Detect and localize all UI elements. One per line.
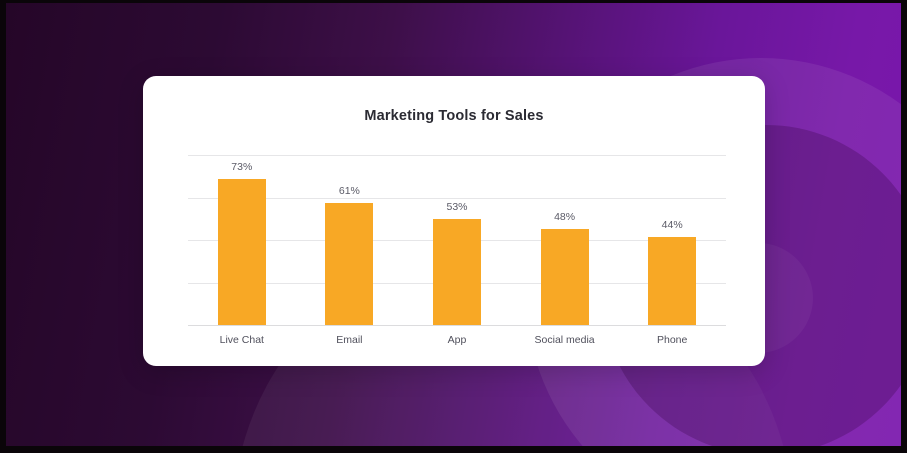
bar-chart-plot-area: 73%Live Chat61%Email53%App48%Social medi…: [188, 155, 726, 325]
bar-group[interactable]: 61%Email: [296, 155, 404, 325]
bar-rect[interactable]: [433, 219, 481, 325]
bar-group[interactable]: 73%Live Chat: [188, 155, 296, 325]
slide-frame: Marketing Tools for Sales 73%Live Chat61…: [0, 0, 907, 453]
bar-value-label: 48%: [554, 211, 575, 223]
bar-group[interactable]: 44%Phone: [618, 155, 726, 325]
bar-value-label: 44%: [662, 219, 683, 231]
bar-rect[interactable]: [648, 237, 696, 325]
bar-group[interactable]: 48%Social media: [511, 155, 619, 325]
chart-card: Marketing Tools for Sales 73%Live Chat61…: [143, 76, 765, 366]
bar-rect[interactable]: [218, 179, 266, 325]
bar-category-label: Phone: [657, 334, 687, 346]
bar-value-label: 61%: [339, 185, 360, 197]
bar-category-label: Live Chat: [220, 334, 264, 346]
bar-value-label: 53%: [446, 201, 467, 213]
axis-baseline: [188, 325, 726, 326]
bar-value-label: 73%: [231, 161, 252, 173]
bar-group[interactable]: 53%App: [403, 155, 511, 325]
bar-category-label: App: [448, 334, 467, 346]
chart-title: Marketing Tools for Sales: [143, 108, 765, 124]
bar-category-label: Social media: [535, 334, 595, 346]
bars-layer: 73%Live Chat61%Email53%App48%Social medi…: [188, 155, 726, 325]
bar-rect[interactable]: [325, 203, 373, 325]
bar-category-label: Email: [336, 334, 362, 346]
bar-rect[interactable]: [541, 229, 589, 325]
